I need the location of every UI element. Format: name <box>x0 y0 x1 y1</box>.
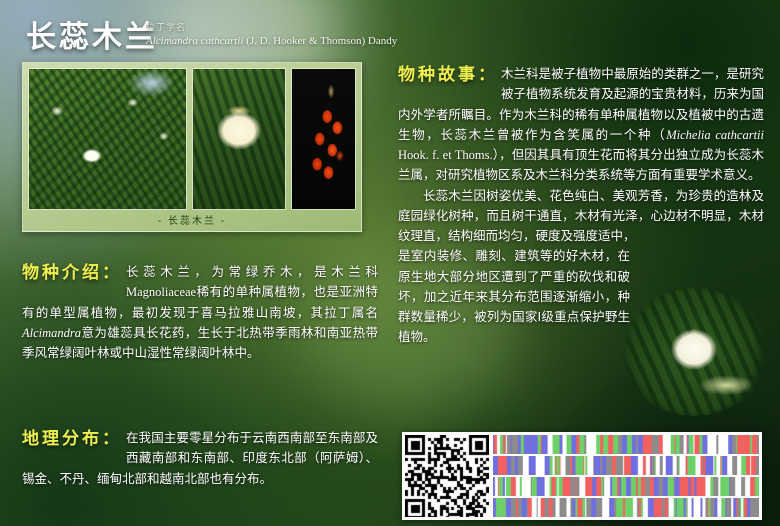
latin-name-block: 拉丁学名 Alcimandra cathcartii (J. D. Hooker… <box>146 20 397 47</box>
white-flower-image <box>193 69 285 209</box>
photo-row <box>28 68 356 210</box>
dna-barcode-row <box>493 456 759 475</box>
latin-binomial: Alcimandra cathcartii <box>146 35 243 47</box>
latin-name-label: 拉丁学名 <box>146 20 397 33</box>
intro-family-name: Magnoliaceae <box>126 285 196 299</box>
dna-barcode-row <box>493 435 759 454</box>
poster-header: 长蕊木兰 拉丁学名 Alcimandra cathcartii (J. D. H… <box>0 0 780 58</box>
species-poster: 长蕊木兰 拉丁学名 Alcimandra cathcartii (J. D. H… <box>0 0 780 526</box>
intro-text-1: 长蕊木兰，为常绿乔木，是木兰科 <box>126 265 378 279</box>
intro-genus-name: Alcimandra <box>22 326 81 340</box>
species-story-paragraph-2a: 长蕊木兰因树姿优美、花色纯白、美观芳香，为珍贵的造林及庭园绿化树种，而且树干通直… <box>398 186 764 247</box>
page-title: 长蕊木兰 <box>26 12 158 56</box>
qr-code[interactable] <box>405 435 489 517</box>
flower-closeup-circle-photo[interactable] <box>620 288 768 416</box>
story-synonym-authority: Hook. f. et Thoms. <box>398 148 493 162</box>
species-story-paragraph-2b: 是室内装修、雕刻、建筑等的好木材，在原生地大部分地区遭到了严重的砍伐和破坏，加之… <box>398 246 630 347</box>
dna-barcode <box>493 435 759 517</box>
photo-caption: - 长蕊木兰 - <box>28 210 356 233</box>
latin-name-value: Alcimandra cathcartii (J. D. Hooker & Th… <box>146 35 397 47</box>
latin-authority: (J. D. Hooker & Thomson) Dandy <box>246 35 397 47</box>
code-card <box>402 432 762 520</box>
red-fruit-photo[interactable] <box>291 68 356 210</box>
tree-in-flower-image <box>29 69 186 209</box>
red-fruit-image <box>292 69 355 209</box>
distribution-heading: 地理分布： <box>22 428 122 449</box>
dna-barcode-row <box>493 498 759 517</box>
dna-barcode-row <box>493 477 759 496</box>
story-synonym-binomial: Michelia cathcartii <box>666 128 764 142</box>
white-flower-photo[interactable] <box>192 68 286 210</box>
distribution-section: 地理分布： 在我国主要零星分布于云南西南部至东南部及西藏南部和东南部、印度东北部… <box>22 428 378 489</box>
species-story-heading: 物种故事： <box>398 64 498 86</box>
photo-strip-panel: - 长蕊木兰 - <box>22 62 362 232</box>
species-introduction-heading: 物种介绍： <box>22 262 122 283</box>
tree-in-flower-photo[interactable] <box>28 68 187 210</box>
intro-text-2: 稀有的单种属植物，也是亚洲特有的单型属植物，最初发现于喜马拉雅山南坡，其拉丁属名 <box>22 285 378 319</box>
species-introduction-section: 物种介绍： 长蕊木兰，为常绿乔木，是木兰科Magnoliaceae稀有的单种属植… <box>22 262 378 363</box>
